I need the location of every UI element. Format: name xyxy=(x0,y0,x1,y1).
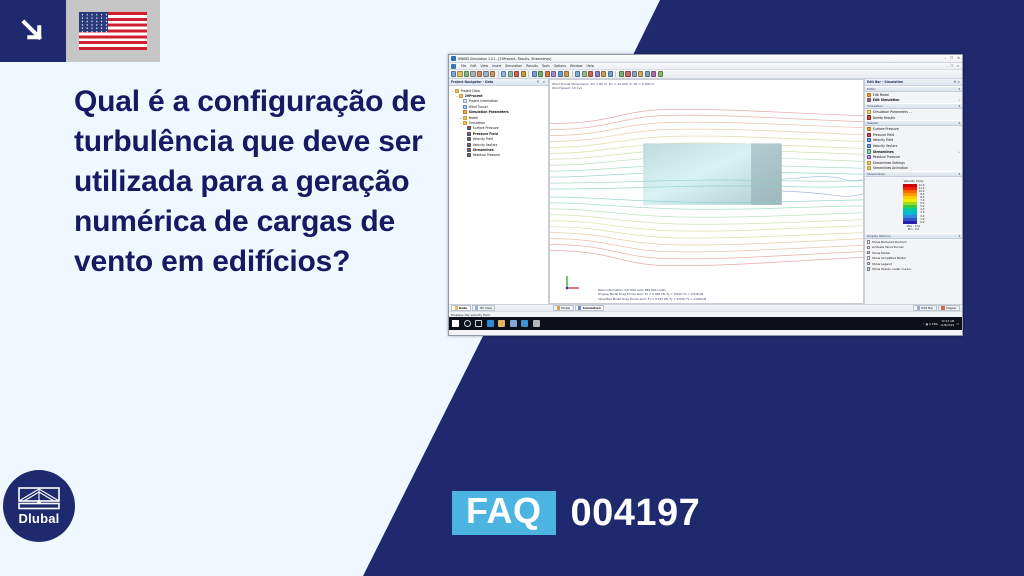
edit-bar-item-icon xyxy=(867,155,871,159)
edit-bar-title: Edit Bar - Simulation xyxy=(867,80,903,84)
notification-icon[interactable]: ☐ xyxy=(957,322,959,326)
edit-bar-item-label: Streamlines xyxy=(873,150,894,154)
edit-bar-pin-icons[interactable]: ⇱ ✕ xyxy=(954,80,960,84)
rwind-application-window: RWIND Simulation 1.21 - [29Procent, Resu… xyxy=(448,54,963,336)
tab-label: Model xyxy=(561,306,570,310)
tree-item-label: Model xyxy=(469,116,478,120)
edit-bar-item-icon xyxy=(867,138,871,142)
tray-icons[interactable]: ⌃ ▣ ⏻ ENG xyxy=(923,322,938,326)
collapse-icon[interactable]: ▾ xyxy=(958,104,960,108)
edit-bar-item-label: Edit Simulation xyxy=(873,98,900,102)
toolbar-button-4[interactable] xyxy=(477,71,482,76)
tabs-right-group[interactable]: Edit BarClipper xyxy=(913,305,960,311)
tree-node-icon xyxy=(463,110,467,114)
toolbar-button-23[interactable] xyxy=(595,71,600,76)
taskbar-store-icon[interactable] xyxy=(521,320,528,327)
window-title-bar: RWIND Simulation 1.21 - [29Procent, Resu… xyxy=(449,55,962,63)
tree-node-icon xyxy=(467,126,471,130)
menu-item-simulation[interactable]: Simulation xyxy=(505,64,522,68)
tab-icon xyxy=(455,306,458,309)
display-option-label: Activate Wind Tunnel xyxy=(872,245,904,249)
menu-item-window[interactable]: Window xyxy=(570,64,583,68)
tree-item-label: Project Data xyxy=(461,89,480,93)
toolbar-button-20[interactable] xyxy=(575,71,580,76)
edit-group-title: Simulation xyxy=(867,104,883,108)
drag-forces-simplified: Simplified Model Drag Forces Sum: Fx = 6… xyxy=(598,297,706,301)
tree-item-label: Simulation xyxy=(469,121,485,125)
tab-label: 3D View xyxy=(480,306,492,310)
legend-min-value: 0.0 xyxy=(915,228,919,231)
tree-node-icon xyxy=(467,137,471,141)
tree-node-icon xyxy=(463,116,467,120)
edit-bar-item-label: Pressure Field xyxy=(873,133,894,137)
toolbar-button-6[interactable] xyxy=(490,71,495,76)
checkbox[interactable] xyxy=(867,256,870,259)
legend-minmax: Max : 12.0 Min : 0.0 xyxy=(867,225,960,231)
display-option-label: Show Simplified Model xyxy=(872,256,906,260)
minimize-icon[interactable]: – xyxy=(944,56,946,60)
tab-icon xyxy=(941,306,944,309)
flag-usa-icon xyxy=(66,0,160,62)
collapse-icon[interactable]: ▾ xyxy=(958,87,960,91)
tab-icon xyxy=(557,306,560,309)
checkbox[interactable] xyxy=(867,246,870,249)
tab-icon xyxy=(917,306,920,309)
velocity-legend: Velocity [m/s] 12.011.010.09.08.07.06.05… xyxy=(865,177,962,233)
edit-bar-item-label: Surface Pressure xyxy=(873,127,899,131)
menu-app-icon xyxy=(451,64,456,69)
edit-bar-item-label: Velocity Vectors xyxy=(873,144,898,148)
clock-date: 11/8/2019 xyxy=(940,323,954,327)
display-option-label: Show Legend xyxy=(872,262,892,266)
edit-bar-item-label: Velocity Field xyxy=(873,138,893,142)
tree-node-icon xyxy=(463,99,467,103)
toolbar-separator xyxy=(572,71,573,77)
tab-label: Simulation xyxy=(583,306,601,310)
toolbar-button-2[interactable] xyxy=(464,71,469,76)
toolbar-button-9[interactable] xyxy=(508,71,513,76)
toolbar-button-32[interactable] xyxy=(651,71,656,76)
edit-bar-item-icon xyxy=(867,98,871,102)
collapse-icon[interactable]: ▾ xyxy=(958,234,960,238)
toolbar-button-22[interactable] xyxy=(588,71,593,76)
edit-bar-item[interactable]: Streamlines Animation xyxy=(865,166,962,172)
menu-item-help[interactable]: Help xyxy=(587,64,594,68)
tab-icon xyxy=(475,306,478,309)
legend-title: Velocity [m/s] xyxy=(867,179,960,183)
edit-bar-item-icon xyxy=(867,166,871,170)
toolbar-button-27[interactable] xyxy=(619,71,624,76)
maximize-icon[interactable]: ☐ xyxy=(950,56,953,60)
toolbar-button-17[interactable] xyxy=(558,71,563,76)
toolbar-button-21[interactable] xyxy=(582,71,587,76)
toolbar-button-1[interactable] xyxy=(457,71,462,76)
navigator-pin-icons[interactable]: ⇱ ✕ xyxy=(537,80,546,84)
tree-item-label: Surface Pressure xyxy=(473,126,499,130)
streamlines-plot xyxy=(550,80,863,303)
mdi-window-controls[interactable]: – ☐ ✕ xyxy=(946,64,960,68)
display-option-label: Show Values under Cursor xyxy=(872,267,911,271)
tree-item-label: Residual Pressure xyxy=(473,153,500,157)
tree-item-label: Velocity Field xyxy=(473,137,493,141)
edit-group-title: Results xyxy=(867,121,878,125)
window-body: Project Navigator - Data ⇱ ✕ −Project Da… xyxy=(449,79,962,304)
app-icon xyxy=(451,56,456,61)
edit-bar-item[interactable]: Delete Results xyxy=(865,115,962,121)
tab-icon xyxy=(578,306,581,309)
question-text: Qual é a configuração de turbulência que… xyxy=(74,82,434,281)
navigator-title: Project Navigator - Data xyxy=(451,80,493,84)
arrow-down-right-icon xyxy=(0,0,66,62)
taskbar-start-icon[interactable] xyxy=(452,320,459,327)
menu-item-view[interactable]: View xyxy=(481,64,489,68)
taskbar-task-view-icon[interactable] xyxy=(475,320,482,327)
close-icon[interactable]: ✕ xyxy=(957,56,960,60)
toolbar-button-24[interactable] xyxy=(601,71,606,76)
toolbar-button-10[interactable] xyxy=(514,71,519,76)
faq-block: FAQ 004197 xyxy=(452,491,700,535)
edit-bar-item-icon xyxy=(867,144,871,148)
toolbar-separator xyxy=(528,71,529,77)
edit-bar-item-label: Simulation Parameters ... xyxy=(873,110,912,114)
toolbar-button-30[interactable] xyxy=(638,71,643,76)
tab-model[interactable]: Model xyxy=(553,305,574,311)
edit-bar-header: Edit Bar - Simulation ⇱ ✕ xyxy=(865,79,962,86)
legend-value: 0.0 xyxy=(919,221,925,224)
edit-bar-item-icon xyxy=(867,133,871,137)
toolbar-separator xyxy=(498,71,499,77)
edit-bar-item-icon xyxy=(867,161,871,165)
expand-icon[interactable]: » xyxy=(958,98,960,102)
menu-item-results[interactable]: Results xyxy=(526,64,538,68)
tree-item-label: Velocity Vectors xyxy=(473,143,498,147)
menu-bar[interactable]: FileEditViewInsertSimulationResultsTools… xyxy=(449,63,962,70)
top-badges xyxy=(0,0,160,62)
edit-bar-item-label: Delete Results xyxy=(873,116,895,120)
display-option-row[interactable]: Show Values under Cursor xyxy=(865,266,962,271)
edit-group-title: Streamlines xyxy=(867,172,885,176)
tree-item-label: Project Information xyxy=(469,99,498,103)
taskbar-browser-icon[interactable] xyxy=(487,320,494,327)
menu-item-file[interactable]: File xyxy=(461,64,466,68)
toolbar-button-13[interactable] xyxy=(532,71,537,76)
edit-bar-item-label: Streamlines Animation xyxy=(873,166,908,170)
toolbar-button-31[interactable] xyxy=(645,71,650,76)
logo-label: Dlubal xyxy=(19,511,60,526)
collapse-icon[interactable]: ▾ xyxy=(958,121,960,125)
toolbar[interactable] xyxy=(449,70,962,79)
faq-badge: FAQ xyxy=(452,491,556,535)
faq-number: 004197 xyxy=(571,494,701,532)
windows-taskbar[interactable]: ⌃ ▣ ⏻ ENG 10:13 AM 11/8/2019 ☐ xyxy=(449,317,962,330)
edit-bar-item-icon xyxy=(867,115,871,119)
edit-bar-item-label: Residual Pressure xyxy=(873,155,900,159)
tree-node-icon xyxy=(463,121,467,125)
menu-item-insert[interactable]: Insert xyxy=(492,64,501,68)
viewport-canvas[interactable]: Wind Tunnel Dimensions: Dx = 80 m, Dy = … xyxy=(549,79,864,304)
edit-bar-item-label: Edit Model xyxy=(873,93,889,97)
mesh-information: Mesh Information: 337.000 cells, 380.000… xyxy=(598,288,706,301)
toolbar-button-18[interactable] xyxy=(564,71,569,76)
toolbar-button-28[interactable] xyxy=(625,71,630,76)
edit-bar-item-icon xyxy=(867,149,871,153)
taskbar-rwind-icon[interactable] xyxy=(533,320,540,327)
toolbar-button-29[interactable] xyxy=(632,71,637,76)
toolbar-button-3[interactable] xyxy=(470,71,475,76)
navigator-header: Project Navigator - Data ⇱ ✕ xyxy=(449,79,548,86)
tab-edit-bar[interactable]: Edit Bar xyxy=(913,305,936,311)
status-text: Displays the velocity field. xyxy=(451,313,491,317)
tree-node-icon xyxy=(455,89,459,93)
taskbar-file-explorer-icon[interactable] xyxy=(498,320,505,327)
legend-min-label: Min : xyxy=(908,228,914,231)
menu-item-tools[interactable]: Tools xyxy=(542,64,550,68)
system-tray[interactable]: ⌃ ▣ ⏻ ENG 10:13 AM 11/8/2019 ☐ xyxy=(923,320,959,326)
project-navigator-panel: Project Navigator - Data ⇱ ✕ −Project Da… xyxy=(449,79,549,304)
toolbar-button-25[interactable] xyxy=(608,71,613,76)
toolbar-separator xyxy=(615,71,616,77)
tree-node-icon xyxy=(467,153,471,157)
display-option-label: Show Model xyxy=(872,251,890,255)
tree-item-label: Simulation Parameters xyxy=(469,110,509,114)
tab-label: Data xyxy=(459,306,467,310)
display-option-label: Show Reduced Domain xyxy=(872,240,907,244)
toolbar-button-11[interactable] xyxy=(521,71,526,76)
tabs-left-group[interactable]: Data3D View xyxy=(451,305,495,311)
menu-item-edit[interactable]: Edit xyxy=(470,64,476,68)
tree-item-label: Pressure Field xyxy=(473,132,498,136)
tree-node-icon xyxy=(467,143,471,147)
toolbar-button-16[interactable] xyxy=(551,71,556,76)
tabs-mid-group[interactable]: ModelSimulation xyxy=(553,305,604,311)
tree-node-icon xyxy=(467,132,471,136)
tree-node-icon xyxy=(463,105,467,109)
truss-frame-icon xyxy=(18,486,60,510)
window-title: RWIND Simulation 1.21 - [29Procent, Resu… xyxy=(458,57,551,61)
edit-bar-item-icon xyxy=(867,127,871,131)
tree-item-label: 29Procent xyxy=(465,94,483,98)
taskbar-mail-icon[interactable] xyxy=(510,320,517,327)
edit-bar-item-icon xyxy=(867,110,871,114)
bottom-tab-bar[interactable]: Data3D View ModelSimulation Edit BarClip… xyxy=(449,304,962,311)
checkbox[interactable] xyxy=(867,240,870,243)
tree-item-label: Streamlines xyxy=(473,148,494,152)
tab-simulation[interactable]: Simulation xyxy=(575,305,605,311)
checkbox[interactable] xyxy=(867,262,870,265)
dlubal-logo: Dlubal xyxy=(3,470,75,542)
taskbar-clock[interactable]: 10:13 AM 11/8/2019 xyxy=(940,320,954,326)
toolbar-button-33[interactable] xyxy=(658,71,663,76)
taskbar-search-icon[interactable] xyxy=(464,320,471,327)
tree-node-icon xyxy=(467,148,471,152)
edit-bar-groups: Editor▾Edit ModelEdit Simulation»Simulat… xyxy=(865,86,962,171)
toolbar-button-5[interactable] xyxy=(483,71,488,76)
project-tree[interactable]: −Project Data−29ProcentProject Informati… xyxy=(449,86,548,304)
checkbox[interactable] xyxy=(867,251,870,254)
axis-triad-icon xyxy=(564,273,582,291)
collapse-icon[interactable]: ▾ xyxy=(958,172,960,176)
tab-label: Edit Bar xyxy=(921,306,933,310)
edit-bar-panel: Edit Bar - Simulation ⇱ ✕ Editor▾Edit Mo… xyxy=(864,79,962,304)
display-options-list: Show Reduced DomainActivate Wind TunnelS… xyxy=(865,239,962,271)
window-controls[interactable]: – ☐ ✕ xyxy=(944,56,960,60)
legend-color-swatch xyxy=(903,221,917,224)
display-options-title: Display Options xyxy=(867,234,891,238)
legend-value-labels: 12.011.010.09.08.07.06.05.04.03.02.01.00… xyxy=(919,184,925,224)
toolbar-button-15[interactable] xyxy=(545,71,550,76)
tab-data[interactable]: Data xyxy=(451,305,471,311)
expand-icon[interactable]: » xyxy=(958,150,960,154)
toolbar-button-0[interactable] xyxy=(451,71,456,76)
edit-bar-item-label: Streamlines Settings xyxy=(873,161,905,165)
tree-item-label: Wind Tunnel xyxy=(469,105,488,109)
checkbox[interactable] xyxy=(867,267,870,270)
tab-3d-view[interactable]: 3D View xyxy=(472,305,496,311)
tree-node-icon xyxy=(459,94,463,98)
toolbar-button-14[interactable] xyxy=(538,71,543,76)
tree-item[interactable]: Residual Pressure xyxy=(451,153,548,158)
edit-bar-item[interactable]: Edit Simulation» xyxy=(865,98,962,104)
toolbar-button-8[interactable] xyxy=(501,71,506,76)
edit-group-title: Editor xyxy=(867,87,876,91)
edit-bar-item-icon xyxy=(867,93,871,97)
taskbar-icon-group[interactable] xyxy=(452,320,544,327)
tab-label: Clipper xyxy=(946,306,957,310)
menu-item-options[interactable]: Options xyxy=(554,64,566,68)
tab-clipper[interactable]: Clipper xyxy=(938,305,960,311)
legend-color-bar xyxy=(903,184,917,224)
